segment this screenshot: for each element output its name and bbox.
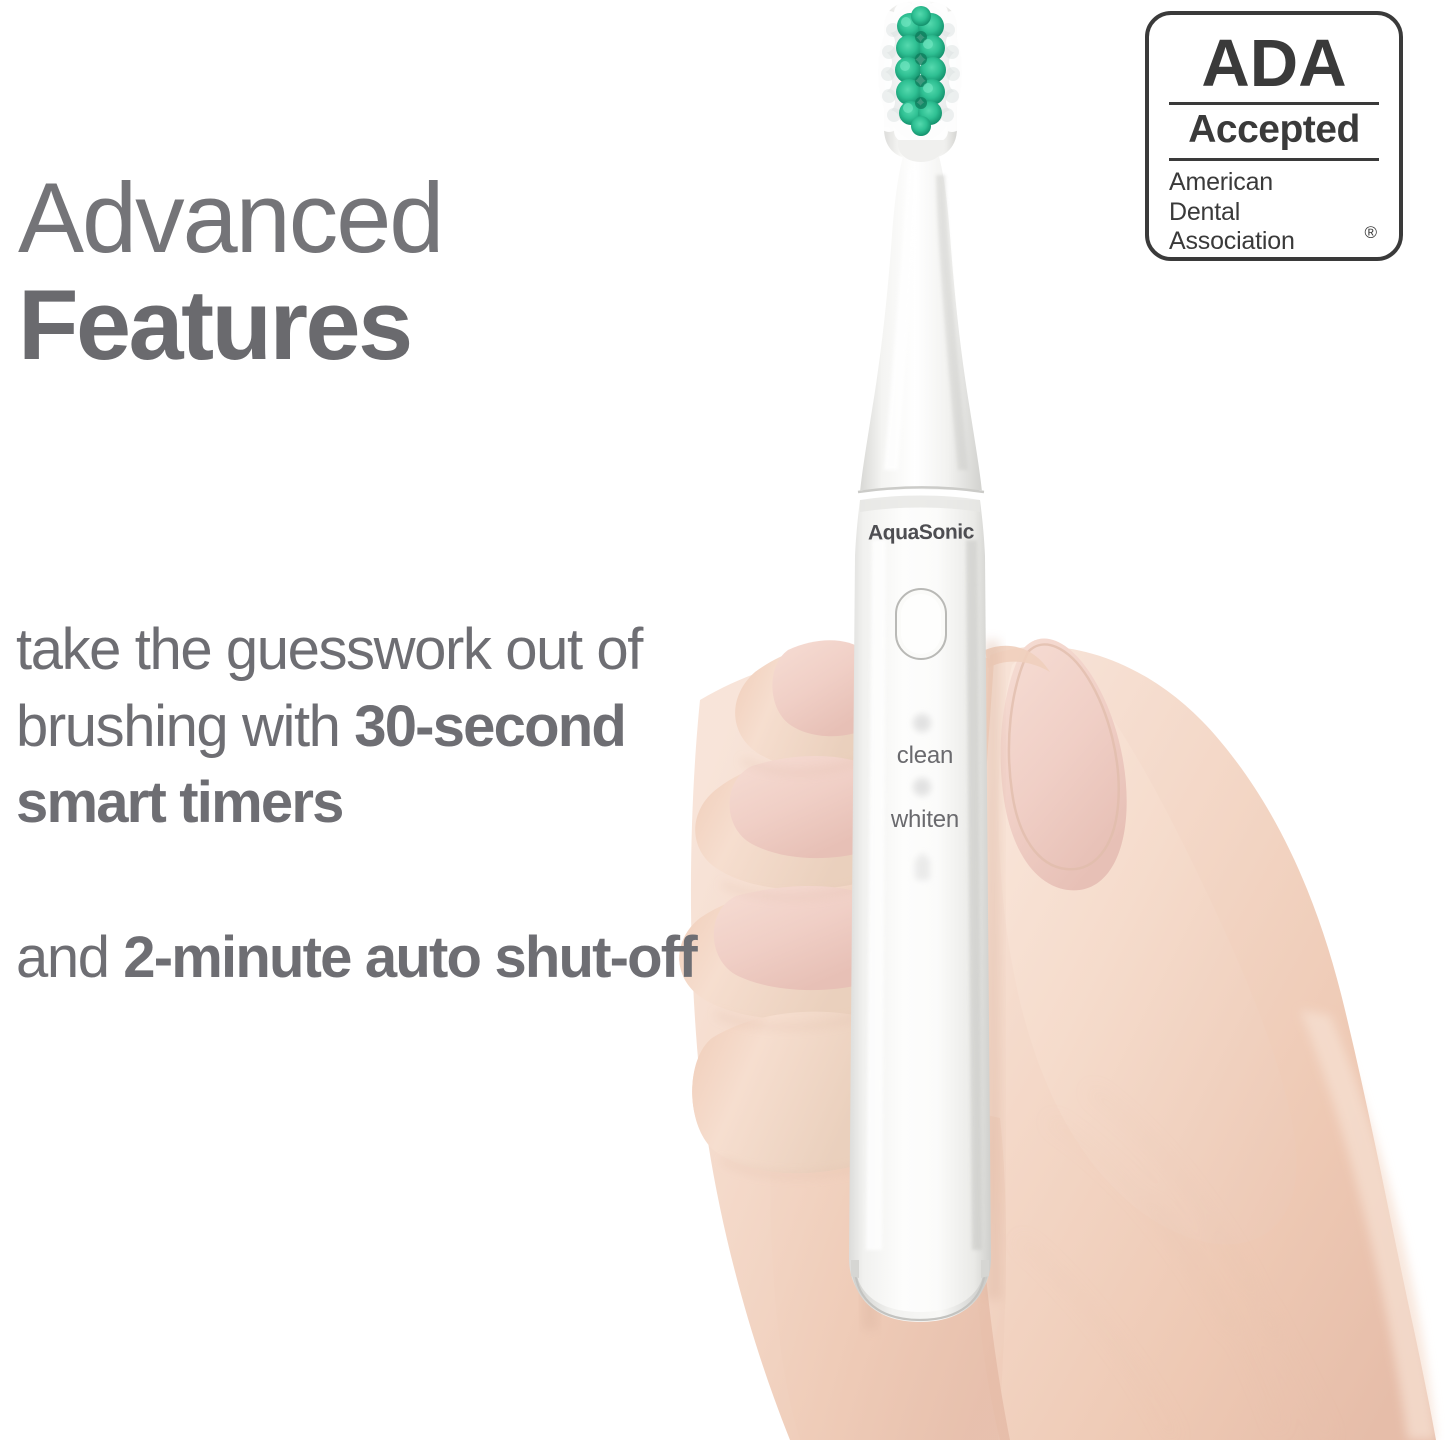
mode-label-whiten: whiten [866,806,984,834]
ada-acronym: ADA [1169,25,1379,97]
pinky-finger [692,1014,866,1172]
product-feature-image: AquaSonic clean whiten Advanced Features… [0,0,1445,1440]
handle-cap-seam [855,1268,985,1320]
clean-led-dot [913,714,931,732]
bristles-center-teal [895,6,946,136]
headline-line-1: Advanced [18,168,698,269]
ada-organization: American Dental Association [1169,168,1379,257]
bristles-outer [870,0,971,155]
power-button-inner [901,594,941,654]
ada-divider-top [1169,102,1379,105]
brand-logotype: AquaSonic [851,520,991,545]
power-button[interactable] [896,589,946,659]
wrist-highlight [1300,1010,1436,1440]
thumb-web [985,646,1050,672]
brush-neck [860,150,982,492]
brush-contact-shadow-right [984,640,1002,1300]
head-seam-line [858,488,984,493]
shutoff-regular-text: and [16,925,123,990]
feature-paragraph-shutoff: and 2-minute auto shut-off [16,920,716,997]
ada-org-line-2: Dental [1169,198,1379,228]
index-nail [772,642,862,736]
palm [970,646,1436,1440]
handle-highlight-left [866,540,886,1250]
handle-top-rim [860,496,980,513]
lower-palm [770,1104,1005,1440]
ada-accepted-badge: ADA Accepted American Dental Association… [1145,11,1403,261]
feature-paragraph-timers: take the guesswork out of brushing with … [16,612,776,842]
battery-icon [915,854,930,880]
palm-creases [1020,1090,1330,1440]
cap-notch-right [981,1260,989,1278]
thumb-nail-edge [1009,644,1119,869]
shutoff-bold-text: 2-minute auto shut-off [123,925,696,990]
registered-trademark-icon: ® [1364,223,1377,243]
thumb-nail [1001,638,1127,890]
index-nail-edge [792,646,860,655]
page-title: Advanced Features [18,168,698,376]
cap-notch-left [851,1260,859,1278]
handle-cap-ring [851,1262,989,1322]
ada-divider-bottom [1169,158,1379,161]
neck-collar [898,140,945,162]
whiten-led-dot [913,778,931,796]
ring-nail [714,888,862,990]
neck-highlight [884,170,918,470]
headline-line-2: Features [18,275,698,376]
brush-head-plate [884,1,957,160]
thumb [999,653,1297,1244]
head-handle-gap [858,490,984,498]
ada-status: Accepted [1169,108,1379,155]
ring-nail-edge [740,892,861,902]
handle-shade-right [966,540,982,1250]
neck-shade [936,175,968,470]
ada-org-line-3: Association [1169,227,1379,257]
mode-label-clean: clean [866,742,984,770]
ada-org-line-1: American [1169,168,1379,198]
brush-handle [849,500,991,1318]
